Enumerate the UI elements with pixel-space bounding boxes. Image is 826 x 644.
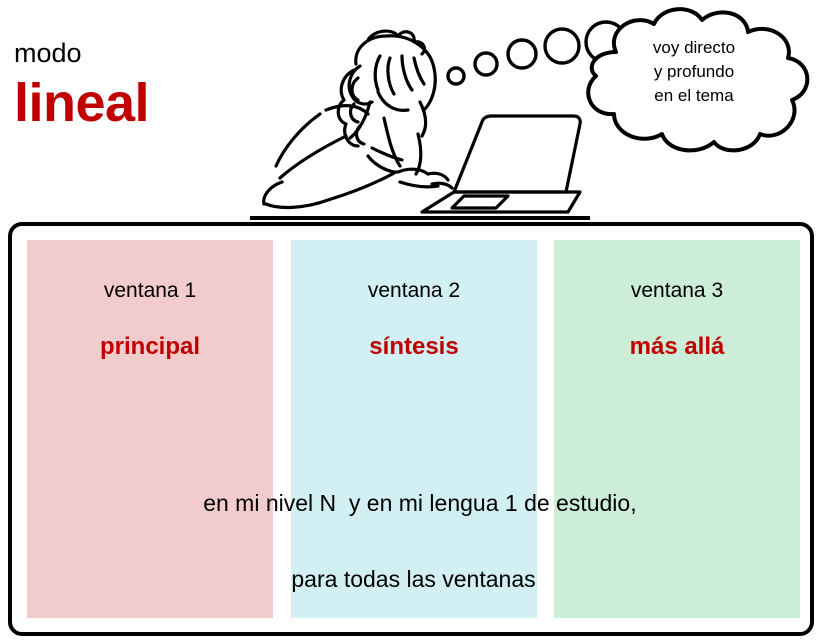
page-title: lineal (14, 74, 264, 132)
thought-cloud-line-2: y profundo (604, 60, 784, 84)
thought-cloud-text: voy directo y profundo en el tema (604, 36, 784, 108)
page-title-block: modo lineal (14, 38, 264, 132)
thought-cloud-line-1: voy directo (604, 36, 784, 60)
window-column-1-name: principal (27, 332, 273, 362)
window-column-2-header: ventana 2 (291, 278, 537, 304)
thought-dot-1 (448, 68, 464, 84)
thought-dot-2 (475, 53, 497, 75)
footer-note-line-1: en mi nivel N y en mi lengua 1 de estudi… (203, 490, 636, 516)
footer-note-line-2: para todas las ventanas (27, 560, 800, 598)
footer-note: en mi nivel N y en mi lengua 1 de estudi… (27, 446, 800, 636)
page-title-kicker: modo (14, 38, 264, 68)
thought-dot-3 (508, 40, 536, 68)
window-column-1-header: ventana 1 (27, 278, 273, 304)
window-column-2-name: síntesis (291, 332, 537, 362)
window-column-3-name: más allá (554, 332, 800, 362)
window-column-3-header: ventana 3 (554, 278, 800, 304)
thought-cloud-line-3: en el tema (604, 84, 784, 108)
